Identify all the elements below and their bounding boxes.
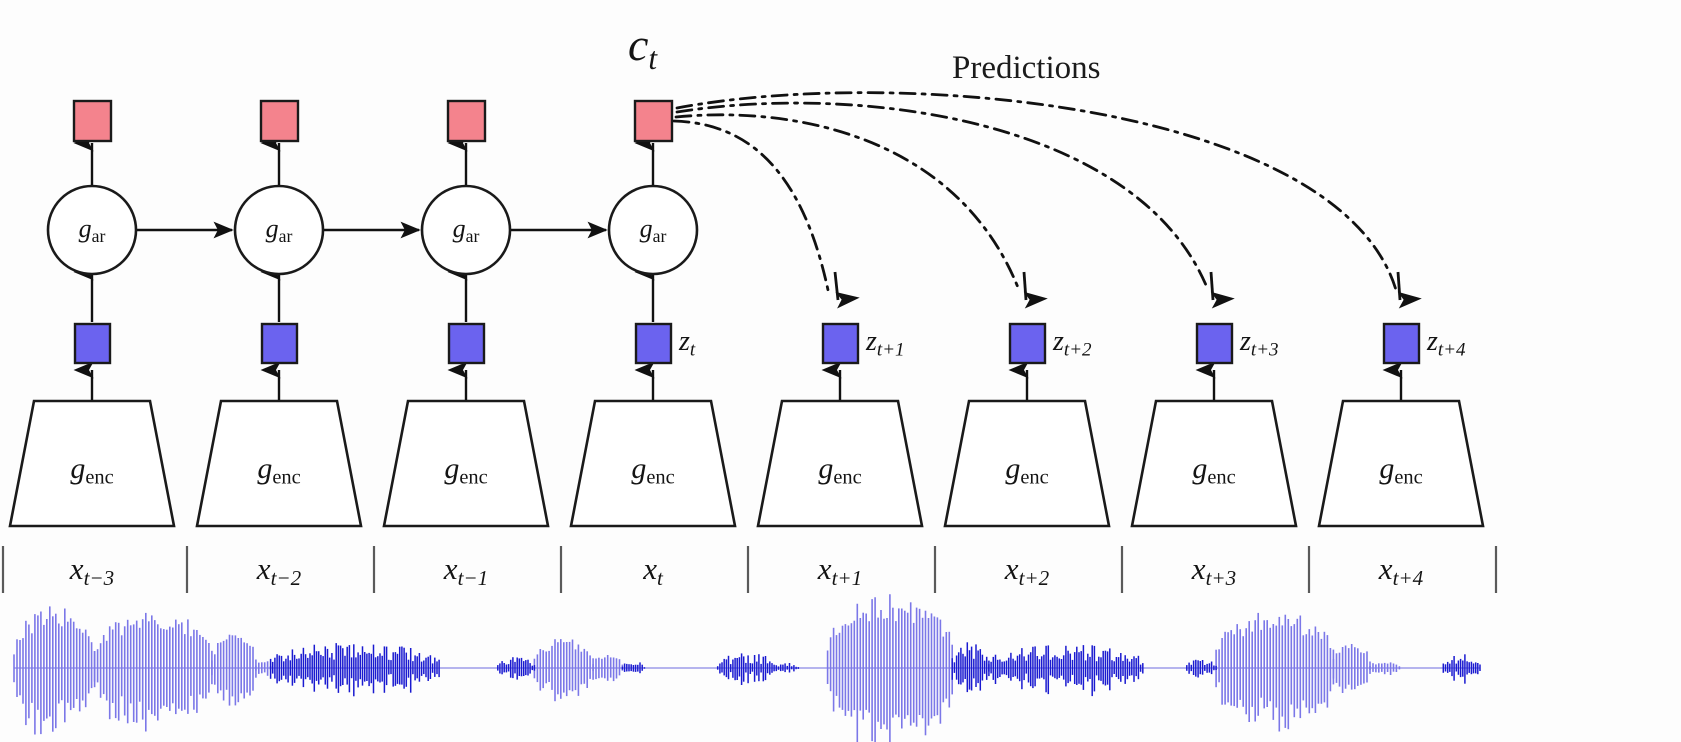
gar-label: gar	[608, 214, 698, 247]
context-vector-title: ct	[628, 18, 657, 77]
genc-label: genc	[967, 452, 1087, 490]
input-label-x-t+4: xt+4	[1341, 551, 1461, 591]
context-square-group	[74, 101, 672, 141]
latent-label-z-t+2: zt+2	[1053, 326, 1092, 361]
latent-square-z-t+4	[1384, 324, 1419, 363]
latent-square-z-t+1	[823, 324, 858, 363]
latent-label-z-t+1: zt+1	[866, 326, 905, 361]
latent-square-z-t+2	[1010, 324, 1045, 363]
figure-canvas: ct Predictions gar gar gar gar genc genc…	[0, 0, 1681, 742]
input-label-x-t-1: xt−1	[406, 551, 526, 591]
input-label-x-t-3: xt−3	[32, 551, 152, 591]
prediction-curve-group	[674, 93, 1396, 290]
prediction-arrowhead	[1211, 272, 1213, 300]
prediction-arrowhead	[1024, 272, 1026, 300]
diagram-svg	[0, 0, 1681, 742]
waveform	[14, 594, 1480, 742]
input-label-x-t: xt	[593, 551, 713, 591]
latent-square-z-t-1	[449, 324, 484, 363]
gar-label: gar	[47, 214, 137, 247]
context-square-c-t-2	[261, 101, 298, 141]
prediction-arrowhead	[1398, 272, 1400, 300]
latent-square-group	[75, 324, 1419, 363]
latent-square-z-t+3	[1197, 324, 1232, 363]
input-label-x-t+2: xt+2	[967, 551, 1087, 591]
genc-label: genc	[32, 452, 152, 490]
prediction-curve-to-z-t+2	[676, 115, 1019, 290]
prediction-arrowhead-group	[835, 272, 1400, 300]
prediction-curve-to-z-t+4	[677, 93, 1396, 290]
genc-label: genc	[593, 452, 713, 490]
gar-label: gar	[234, 214, 324, 247]
prediction-curve-to-z-t+3	[677, 103, 1208, 290]
genc-label: genc	[219, 452, 339, 490]
genc-label: genc	[1341, 452, 1461, 490]
context-square-c-t	[635, 101, 672, 141]
context-square-c-t-3	[74, 101, 111, 141]
gar-to-context-arrow-group	[92, 143, 653, 185]
encoder-to-latent-arrow-group	[92, 370, 1401, 400]
latent-square-z-t-2	[262, 324, 297, 363]
input-label-x-t+3: xt+3	[1154, 551, 1274, 591]
prediction-curve-to-z-t+1	[674, 121, 828, 290]
genc-label: genc	[406, 452, 526, 490]
latent-square-z-t-3	[75, 324, 110, 363]
latent-to-gar-arrow-group	[92, 272, 653, 322]
prediction-arrowhead	[835, 272, 838, 300]
latent-label-z-t: zt	[679, 326, 695, 361]
genc-label: genc	[1154, 452, 1274, 490]
gar-label: gar	[421, 214, 511, 247]
latent-square-z-t	[636, 324, 671, 363]
genc-label: genc	[780, 452, 900, 490]
input-label-x-t-2: xt−2	[219, 551, 339, 591]
predictions-label: Predictions	[952, 50, 1100, 87]
latent-label-z-t+3: zt+3	[1240, 326, 1279, 361]
input-label-x-t+1: xt+1	[780, 551, 900, 591]
latent-label-z-t+4: zt+4	[1427, 326, 1466, 361]
context-square-c-t-1	[448, 101, 485, 141]
